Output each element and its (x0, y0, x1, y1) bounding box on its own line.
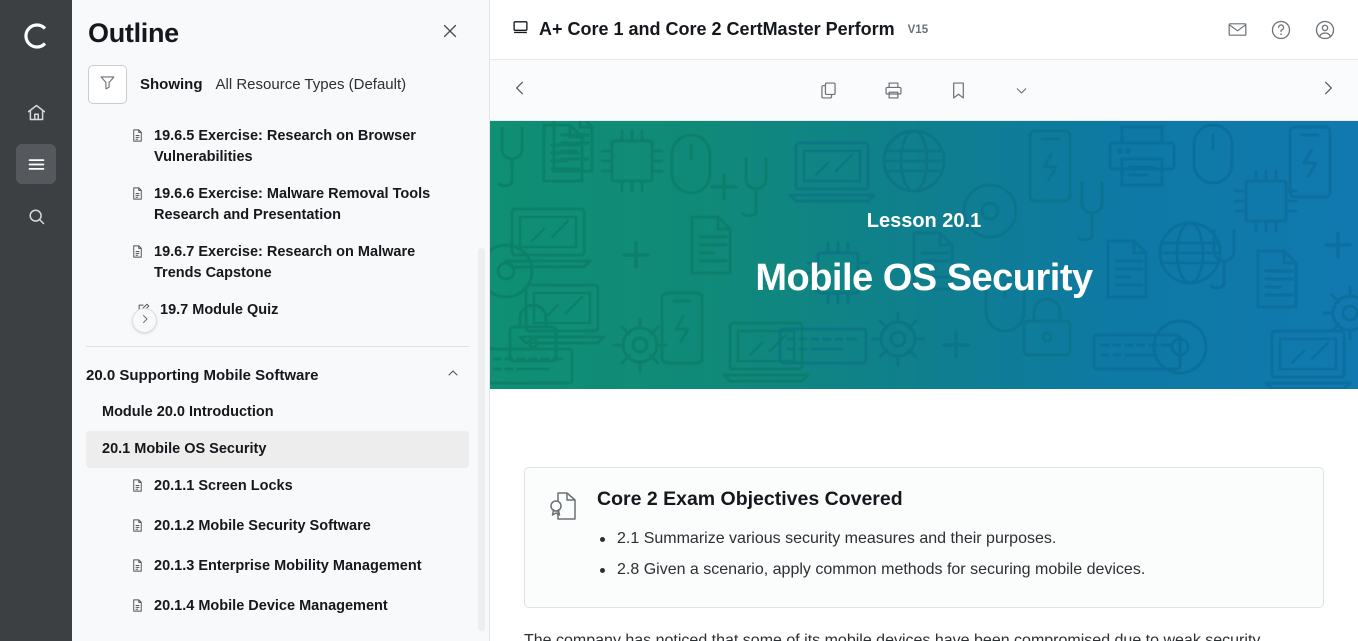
chevron-right-icon (1318, 78, 1338, 103)
chevron-left-icon (510, 78, 530, 103)
list-item-label: 20.1.1 Screen Locks (154, 476, 459, 497)
list-item-label: 19.6.7 Exercise: Research on Malware Tre… (154, 242, 459, 284)
previous-page-button[interactable] (490, 78, 550, 103)
lesson-intro-paragraph: The company has noticed that some of its… (524, 628, 1324, 641)
list-item[interactable]: 19.6.6 Exercise: Malware Removal Tools R… (86, 176, 469, 234)
book-icon (512, 19, 529, 41)
outline-header: Outline (72, 0, 489, 55)
list-item-label: 19.6.5 Exercise: Research on Browser Vul… (154, 126, 459, 168)
list-item: 2.1 Summarize various security measures … (597, 523, 1299, 554)
list-item-label: Module 20.0 Introduction (102, 402, 459, 423)
list-item[interactable]: 20.1.3 Enterprise Mobility Management (86, 548, 469, 588)
document-body: Core 2 Exam Objectives Covered 2.1 Summa… (490, 467, 1358, 641)
close-icon (439, 20, 461, 47)
document-toolbar (490, 60, 1358, 121)
header-actions (1227, 19, 1336, 41)
callout-title: Core 2 Exam Objectives Covered (597, 488, 1299, 511)
list-item[interactable]: 19.6.5 Exercise: Research on Browser Vul… (86, 118, 469, 176)
showing-label: Showing (140, 76, 203, 93)
document-icon (130, 186, 146, 208)
chevron-up-icon[interactable] (445, 365, 461, 386)
sidebar-item-search[interactable] (16, 196, 56, 236)
document-icon (130, 478, 146, 500)
tech-doodle-pattern (490, 121, 1358, 389)
account-circle-icon[interactable] (1314, 19, 1336, 41)
outline-menu-icon (26, 154, 47, 175)
document-icon (130, 244, 146, 266)
certificate-document-icon (547, 490, 581, 585)
comptia-c-logo (16, 16, 56, 56)
document-icon (130, 598, 146, 620)
outline-section-tree: Module 20.0 Introduction 20.1 Mobile OS … (72, 394, 483, 628)
document-icon (130, 128, 146, 150)
callout-content: Core 2 Exam Objectives Covered 2.1 Summa… (597, 488, 1299, 585)
lesson-document: Lesson 20.1 Mobile OS Security Core (490, 121, 1358, 641)
help-circle-icon[interactable] (1270, 19, 1292, 41)
lesson-hero-banner: Lesson 20.1 Mobile OS Security (490, 121, 1358, 389)
sidebar-item-mobile-os-security[interactable]: 20.1 Mobile OS Security (86, 431, 469, 468)
print-icon[interactable] (883, 80, 904, 101)
collapse-panel-button[interactable] (132, 308, 157, 333)
content-pane: A+ Core 1 and Core 2 CertMaster Perform … (490, 0, 1358, 641)
outline-scrollbar[interactable] (478, 248, 485, 631)
showing-value[interactable]: All Resource Types (Default) (216, 76, 407, 93)
list-item-label: 20.1.4 Mobile Device Management (154, 596, 459, 617)
home-icon (26, 102, 47, 123)
sidebar-item-home[interactable] (16, 92, 56, 132)
outline-scroll-area: 19.6.5 Exercise: Research on Browser Vul… (72, 118, 489, 641)
mail-icon[interactable] (1227, 19, 1248, 40)
objectives-list: 2.1 Summarize various security measures … (597, 523, 1299, 585)
bookmark-icon[interactable] (948, 80, 969, 101)
list-item-label: 20.1 Mobile OS Security (102, 439, 459, 460)
list-item[interactable]: 19.6.7 Exercise: Research on Malware Tre… (86, 234, 469, 292)
app-root: Outline Showing All Resource Types (Defa… (0, 0, 1358, 641)
filter-button[interactable] (88, 65, 127, 104)
outline-section-header[interactable]: 20.0 Supporting Mobile Software (72, 357, 483, 394)
left-nav-rail (0, 0, 72, 641)
list-item-label: 20.1.3 Enterprise Mobility Management (154, 556, 459, 577)
course-title: A+ Core 1 and Core 2 CertMaster Perform (539, 19, 895, 40)
list-item[interactable]: Module 20.0 Introduction (86, 394, 469, 431)
sidebar-item-outline[interactable] (16, 144, 56, 184)
top-header-bar: A+ Core 1 and Core 2 CertMaster Perform … (490, 0, 1358, 60)
outline-section-title: 20.0 Supporting Mobile Software (86, 367, 319, 384)
list-item[interactable]: 20.1.1 Screen Locks (86, 468, 469, 508)
exam-objectives-callout: Core 2 Exam Objectives Covered 2.1 Summa… (524, 467, 1324, 608)
document-icon (130, 558, 146, 580)
hero-lesson-number: Lesson 20.1 (867, 210, 982, 233)
next-page-button[interactable] (1298, 78, 1358, 103)
chevron-right-icon (139, 312, 151, 330)
chevron-down-icon[interactable] (1013, 82, 1030, 99)
outline-tree: 19.6.5 Exercise: Research on Browser Vul… (72, 118, 483, 332)
list-item-label: 19.6.6 Exercise: Malware Removal Tools R… (154, 184, 459, 226)
list-item-label: 19.7 Module Quiz (160, 300, 459, 321)
copy-icon[interactable] (818, 80, 839, 101)
list-item: 2.8 Given a scenario, apply common metho… (597, 554, 1299, 585)
outline-panel: Outline Showing All Resource Types (Defa… (72, 0, 490, 641)
course-identity: A+ Core 1 and Core 2 CertMaster Perform … (512, 19, 1227, 41)
page-title: Outline (88, 18, 179, 49)
close-outline-button[interactable] (437, 21, 463, 47)
search-icon (26, 206, 47, 227)
version-badge: V15 (908, 24, 928, 36)
outline-divider (86, 346, 469, 347)
document-icon (130, 518, 146, 540)
hero-lesson-title: Mobile OS Security (755, 257, 1092, 300)
list-item[interactable]: 20.1.4 Mobile Device Management (86, 588, 469, 628)
filter-funnel-icon (98, 73, 117, 97)
resource-filter-row: Showing All Resource Types (Default) (72, 55, 489, 118)
list-item[interactable]: 20.1.2 Mobile Security Software (86, 508, 469, 548)
list-item-label: 20.1.2 Mobile Security Software (154, 516, 459, 537)
toolbar-actions (550, 80, 1298, 101)
